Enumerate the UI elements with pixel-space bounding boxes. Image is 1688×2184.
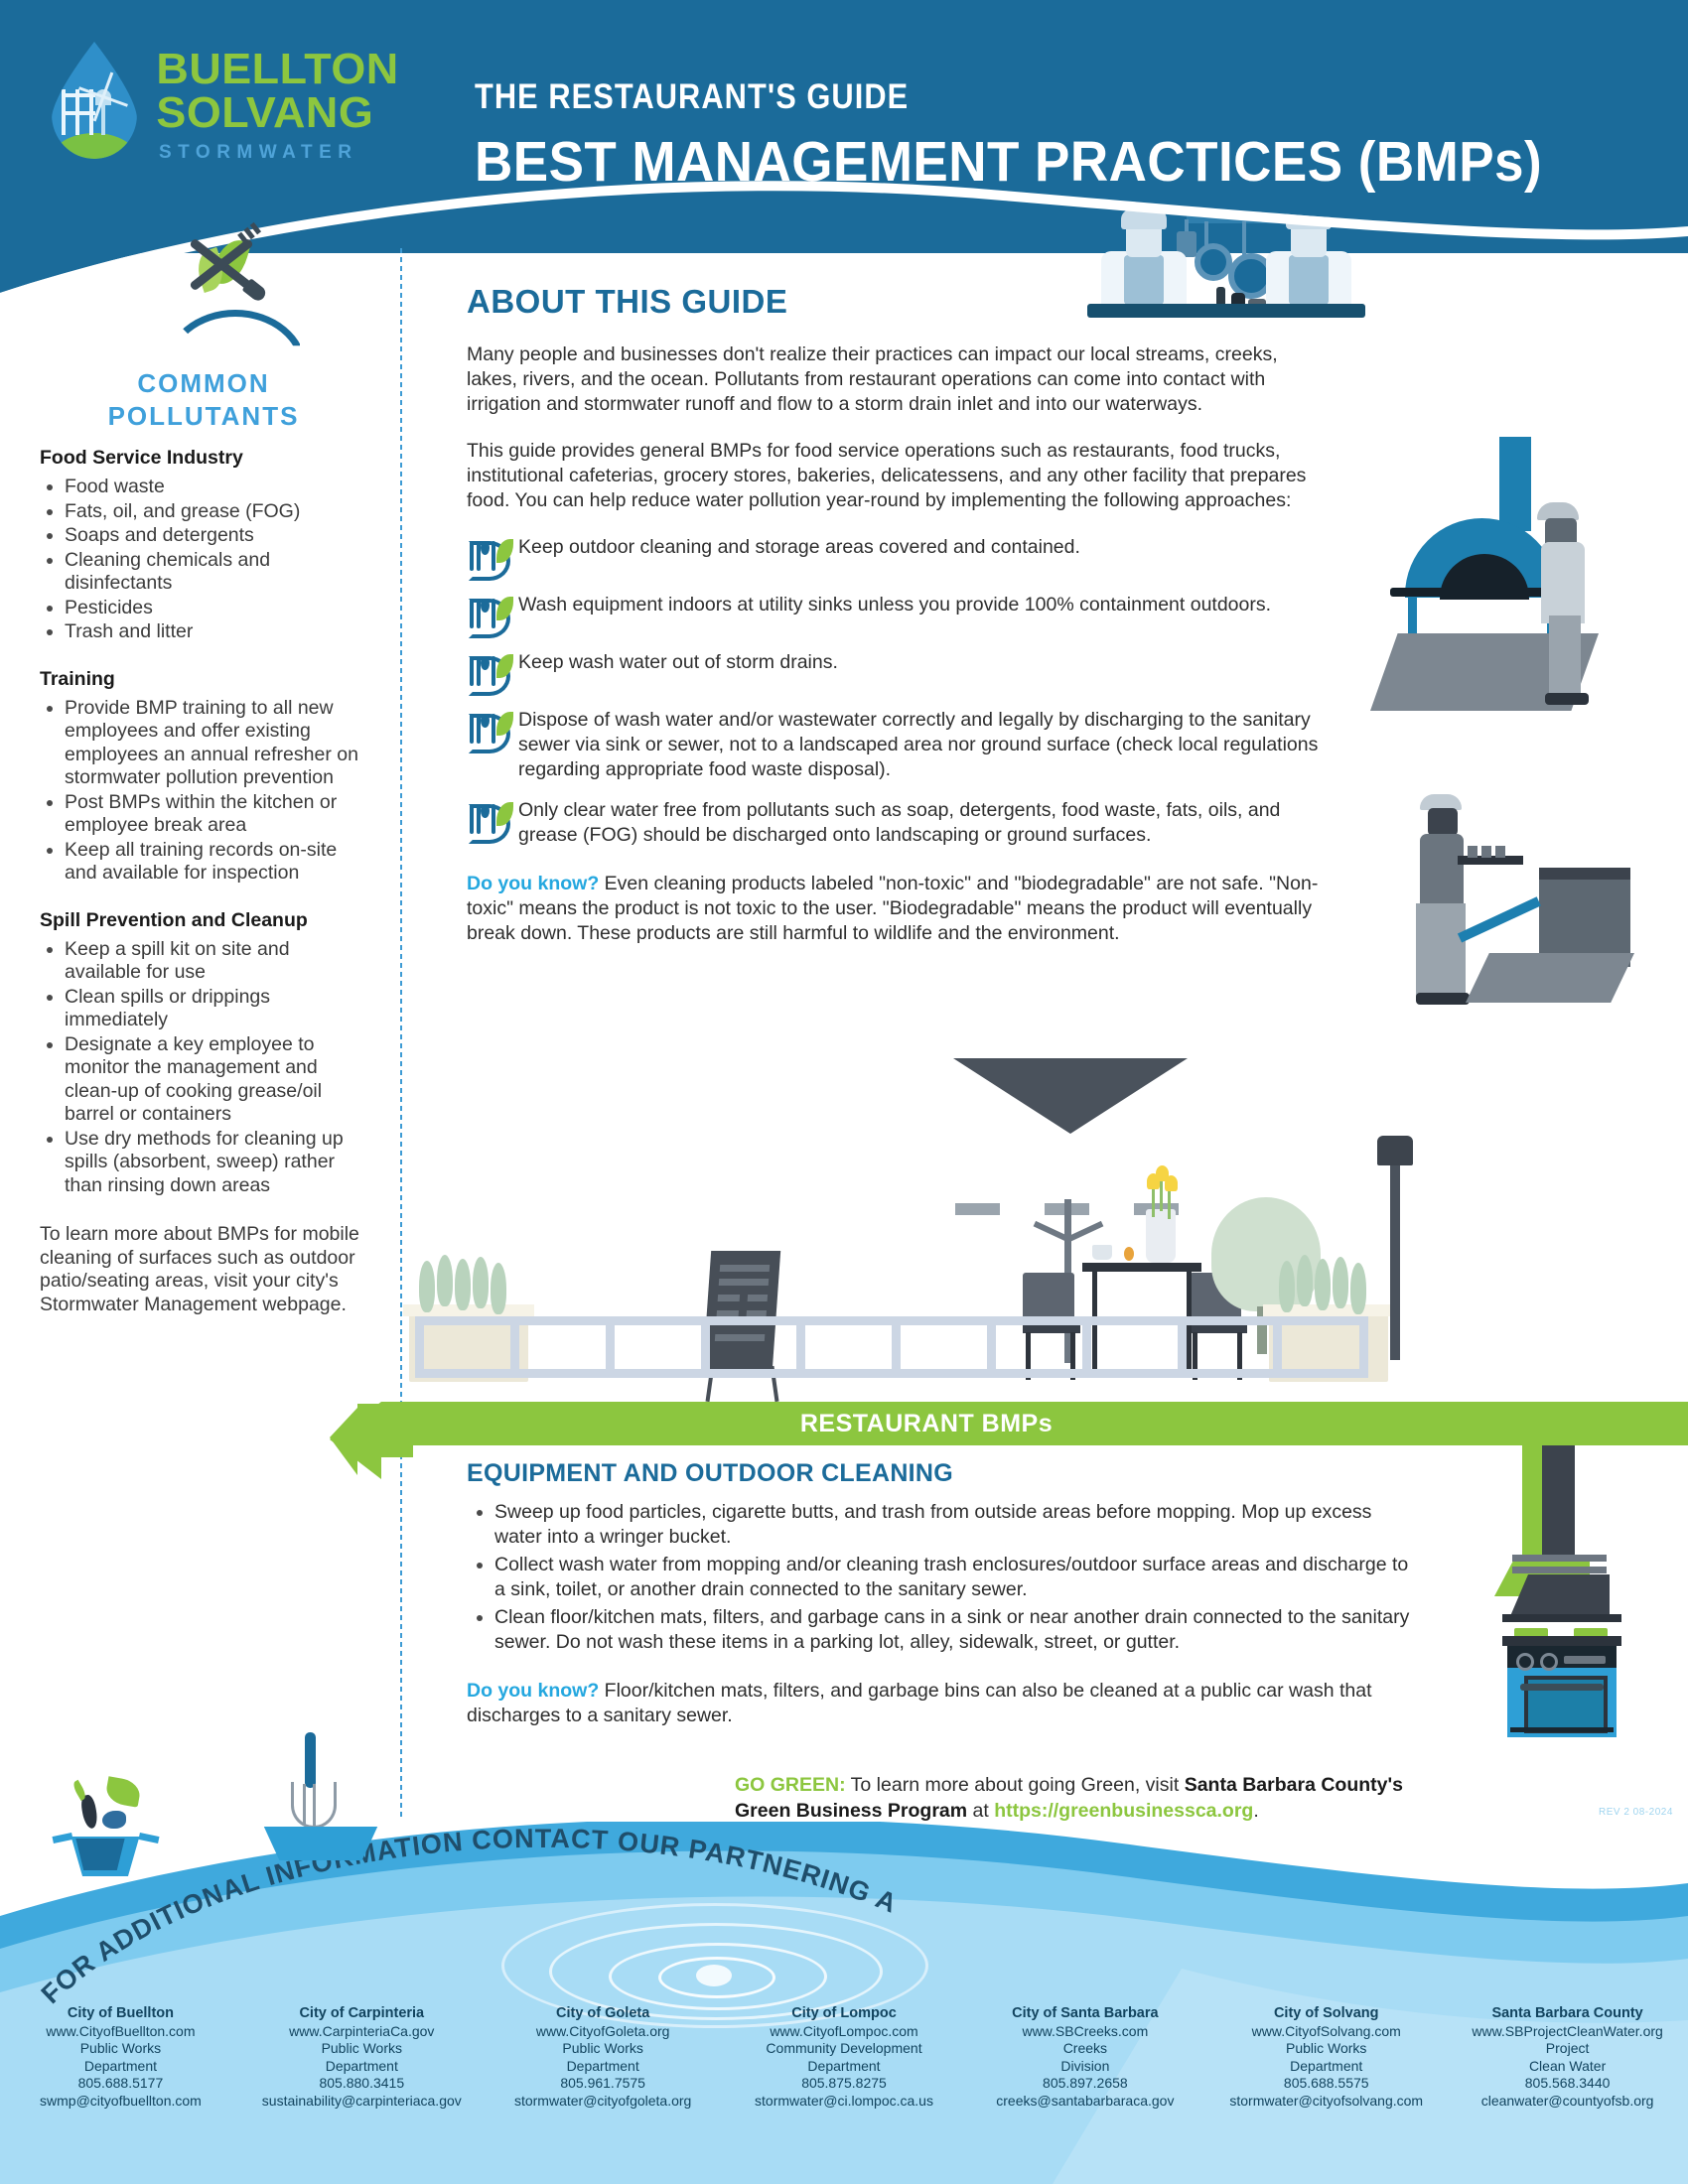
- list-item: Clean spills or drippings immediately: [65, 986, 359, 1032]
- agency-email[interactable]: stormwater@cityofsolvang.com: [1205, 2093, 1447, 2111]
- utensil-leaf-icon: [467, 710, 518, 750]
- list-item: Collect wash water from mopping and/or c…: [494, 1553, 1420, 1602]
- about-paragraph-2: This guide provides general BMPs for foo…: [467, 439, 1331, 513]
- banner-label: RESTAURANT BMPs: [405, 1402, 1448, 1445]
- stove-illustration: [1502, 1628, 1621, 1737]
- page-title: BEST MANAGEMENT PRACTICES (BMPs): [475, 129, 1542, 195]
- list-item: Provide BMP training to all new employee…: [65, 697, 359, 790]
- agency-email[interactable]: cleanwater@countyofsb.org: [1447, 2093, 1688, 2111]
- sidebar-group-heading: Spill Prevention and Cleanup: [40, 909, 359, 932]
- logo-line-3: STORMWATER: [159, 142, 417, 164]
- agency-website[interactable]: www.CityofSolvang.com: [1205, 2023, 1447, 2041]
- utensil-leaf-icon: [467, 537, 518, 577]
- agency-column: City of Goleta www.CityofGoleta.org Publ…: [483, 2005, 724, 2110]
- agency-email[interactable]: sustainability@carpinteriaca.gov: [241, 2093, 483, 2111]
- agency-dept-2: Department: [724, 2058, 965, 2076]
- list-item: Cleaning chemicals and disinfectants: [65, 549, 359, 596]
- agency-email[interactable]: stormwater@ci.lompoc.ca.us: [724, 2093, 965, 2111]
- sidebar-group-heading: Training: [40, 668, 359, 691]
- server-cart-illustration: [1380, 794, 1668, 1023]
- list-item: Use dry methods for cleaning up spills (…: [65, 1128, 359, 1198]
- agency-phone: 805.875.8275: [724, 2075, 965, 2093]
- list-item: Designate a key employee to monitor the …: [65, 1033, 359, 1127]
- agency-website[interactable]: www.CityofBuellton.com: [0, 2023, 241, 2041]
- list-item: Soaps and detergents: [65, 524, 359, 548]
- agency-dept-2: Clean Water: [1447, 2058, 1688, 2076]
- agency-email[interactable]: swmp@cityofbuellton.com: [0, 2093, 241, 2111]
- did-you-know-bmps: Do you know? Floor/kitchen mats, filters…: [467, 1679, 1420, 1728]
- water-drop-icon: [52, 42, 137, 159]
- approach-row: Keep wash water out of storm drains.: [467, 650, 1331, 692]
- restaurant-bmps-banner: RESTAURANT BMPs: [405, 1402, 1688, 1445]
- agency-column: City of Lompoc www.CityofLompoc.com Comm…: [724, 2005, 965, 2110]
- cooking-pot-illustration: [55, 1777, 174, 1886]
- patio-illustration: [397, 1132, 1390, 1400]
- go-green-text-1: To learn more about going Green, visit: [846, 1774, 1185, 1796]
- go-green-text-2: at: [967, 1800, 994, 1822]
- agency-dept-2: Department: [483, 2058, 724, 2076]
- agency-dept-1: Project: [1447, 2040, 1688, 2058]
- agency-phone: 805.688.5177: [0, 2075, 241, 2093]
- utensil-leaf-icon: [467, 652, 518, 692]
- list-item: Clean floor/kitchen mats, filters, and g…: [494, 1605, 1420, 1655]
- go-green-callout: GO GREEN: To learn more about going Gree…: [735, 1772, 1430, 1824]
- agency-name: City of Lompoc: [724, 2005, 965, 2023]
- sidebar-title: COMMON POLLUTANTS: [0, 367, 407, 433]
- agency-phone: 805.897.2658: [964, 2075, 1205, 2093]
- street-lamp: [1390, 1161, 1400, 1360]
- agency-column: City of Carpinteria www.CarpinteriaCa.go…: [241, 2005, 483, 2110]
- sidebar-title-line-1: COMMON: [0, 367, 407, 400]
- agency-phone: 805.568.3440: [1447, 2075, 1688, 2093]
- revision-label: REV 2 08-2024: [1599, 1807, 1673, 1818]
- sidebar-title-line-2: POLLUTANTS: [0, 400, 407, 433]
- agency-dept-2: Department: [0, 2058, 241, 2076]
- did-you-know-label: Do you know?: [467, 873, 599, 894]
- agency-name: Santa Barbara County: [1447, 2005, 1688, 2023]
- agency-dept-1: Public Works: [0, 2040, 241, 2058]
- sidebar-list-spill-prevention: Keep a spill kit on site and available f…: [40, 938, 359, 1198]
- agency-name: City of Goleta: [483, 2005, 724, 2023]
- agency-dept-2: Department: [241, 2058, 483, 2076]
- agency-website[interactable]: www.CityofLompoc.com: [724, 2023, 965, 2041]
- about-paragraph-1: Many people and businesses don't realize…: [467, 342, 1331, 417]
- agency-name: City of Solvang: [1205, 2005, 1447, 2023]
- vertical-dotted-divider: [400, 248, 402, 1817]
- agency-dept-1: Creeks: [964, 2040, 1205, 2058]
- green-arrow: [330, 1402, 413, 1501]
- agency-column: City of Buellton www.CityofBuellton.com …: [0, 2005, 241, 2110]
- sidebar-list-training: Provide BMP training to all new employee…: [40, 697, 359, 886]
- list-item: Sweep up food particles, cigarette butts…: [494, 1500, 1420, 1550]
- agency-contacts: City of Buellton www.CityofBuellton.com …: [0, 2005, 1688, 2110]
- list-item: Fats, oil, and grease (FOG): [65, 500, 359, 524]
- logo-line-2: SOLVANG: [156, 91, 419, 135]
- bmp-section-heading: EQUIPMENT AND OUTDOOR CLEANING: [467, 1459, 1420, 1488]
- header-subtitle: THE RESTAURANT'S GUIDE: [475, 77, 909, 117]
- agency-column: Santa Barbara County www.SBProjectCleanW…: [1447, 2005, 1688, 2110]
- restaurant-bmps-section: EQUIPMENT AND OUTDOOR CLEANING Sweep up …: [467, 1459, 1420, 1728]
- list-item: Pesticides: [65, 597, 359, 620]
- approach-text: Keep wash water out of storm drains.: [518, 650, 1331, 675]
- sidebar-note: To learn more about BMPs for mobile clea…: [40, 1223, 359, 1316]
- go-green-text-3: .: [1253, 1800, 1258, 1822]
- go-green-label: GO GREEN:: [735, 1774, 846, 1796]
- approach-text: Only clear water free from pollutants su…: [518, 798, 1331, 848]
- bmp-list: Sweep up food particles, cigarette butts…: [467, 1500, 1420, 1655]
- did-you-know-text: Floor/kitchen mats, filters, and garbage…: [467, 1680, 1372, 1726]
- agency-dept-1: Public Works: [1205, 2040, 1447, 2058]
- guide-page: BUELLTON SOLVANG STORMWATER THE RESTAURA…: [0, 0, 1688, 2184]
- utensil-leaf-icon: [467, 595, 518, 634]
- agency-column: City of Solvang www.CityofSolvang.com Pu…: [1205, 2005, 1447, 2110]
- list-item: Post BMPs within the kitchen or employee…: [65, 791, 359, 838]
- approach-row: Wash equipment indoors at utility sinks …: [467, 593, 1331, 634]
- agency-name: City of Santa Barbara: [964, 2005, 1205, 2023]
- go-green-link[interactable]: https://greenbusinessca.org: [994, 1800, 1253, 1822]
- agency-dept-1: Public Works: [483, 2040, 724, 2058]
- agency-column: City of Santa Barbara www.SBCreeks.com C…: [964, 2005, 1205, 2110]
- sidebar-group-heading: Food Service Industry: [40, 447, 359, 470]
- agency-phone: 805.880.3415: [241, 2075, 483, 2093]
- kitchen-hood-illustration: [1542, 1445, 1671, 1604]
- list-item: Keep all training records on-site and av…: [65, 839, 359, 886]
- flower-vase: [1146, 1209, 1176, 1263]
- agency-email[interactable]: stormwater@cityofgoleta.org: [483, 2093, 724, 2111]
- logo: BUELLTON SOLVANG STORMWATER: [52, 40, 409, 169]
- sidebar-list-food-service: Food waste Fats, oil, and grease (FOG) S…: [40, 476, 359, 644]
- agency-dept-1: Public Works: [241, 2040, 483, 2058]
- utensil-leaf-icon: [467, 800, 518, 840]
- agency-website[interactable]: www.CityofGoleta.org: [483, 2023, 724, 2041]
- list-item: Trash and litter: [65, 620, 359, 644]
- agency-dept-1: Community Development: [724, 2040, 965, 2058]
- list-item: Food waste: [65, 476, 359, 499]
- agency-dept-2: Department: [1205, 2058, 1447, 2076]
- agency-dept-2: Division: [964, 2058, 1205, 2076]
- agency-phone: 805.961.7575: [483, 2075, 724, 2093]
- about-heading: ABOUT THIS GUIDE: [467, 283, 1331, 321]
- approach-row: Keep outdoor cleaning and storage areas …: [467, 535, 1331, 577]
- fork-knife-leaf-icon: [164, 238, 293, 372]
- list-item: Keep a spill kit on site and available f…: [65, 938, 359, 985]
- pizza-oven-illustration: [1370, 467, 1668, 764]
- condiment: [1124, 1247, 1134, 1261]
- agency-website[interactable]: www.SBCreeks.com: [964, 2023, 1205, 2041]
- approach-row: Only clear water free from pollutants su…: [467, 798, 1331, 848]
- agency-website[interactable]: www.SBProjectCleanWater.org: [1447, 2023, 1688, 2041]
- did-you-know-about: Do you know? Even cleaning products labe…: [467, 872, 1331, 946]
- agency-website[interactable]: www.CarpinteriaCa.gov: [241, 2023, 483, 2041]
- approach-text: Wash equipment indoors at utility sinks …: [518, 593, 1331, 617]
- approach-text: Dispose of wash water and/or wastewater …: [518, 708, 1331, 782]
- logo-line-1: BUELLTON: [156, 48, 419, 91]
- approach-row: Dispose of wash water and/or wastewater …: [467, 708, 1331, 782]
- patio-railing: [415, 1316, 1368, 1378]
- approach-text: Keep outdoor cleaning and storage areas …: [518, 535, 1331, 560]
- about-section: ABOUT THIS GUIDE Many people and busines…: [467, 283, 1331, 946]
- agency-phone: 805.688.5575: [1205, 2075, 1447, 2093]
- agency-name: City of Carpinteria: [241, 2005, 483, 2023]
- coffee-cup: [1092, 1245, 1112, 1260]
- agency-email[interactable]: creeks@santabarbaraca.gov: [964, 2093, 1205, 2111]
- agency-name: City of Buellton: [0, 2005, 241, 2023]
- did-you-know-label: Do you know?: [467, 1680, 599, 1702]
- sidebar-body: Food Service Industry Food waste Fats, o…: [40, 447, 359, 1316]
